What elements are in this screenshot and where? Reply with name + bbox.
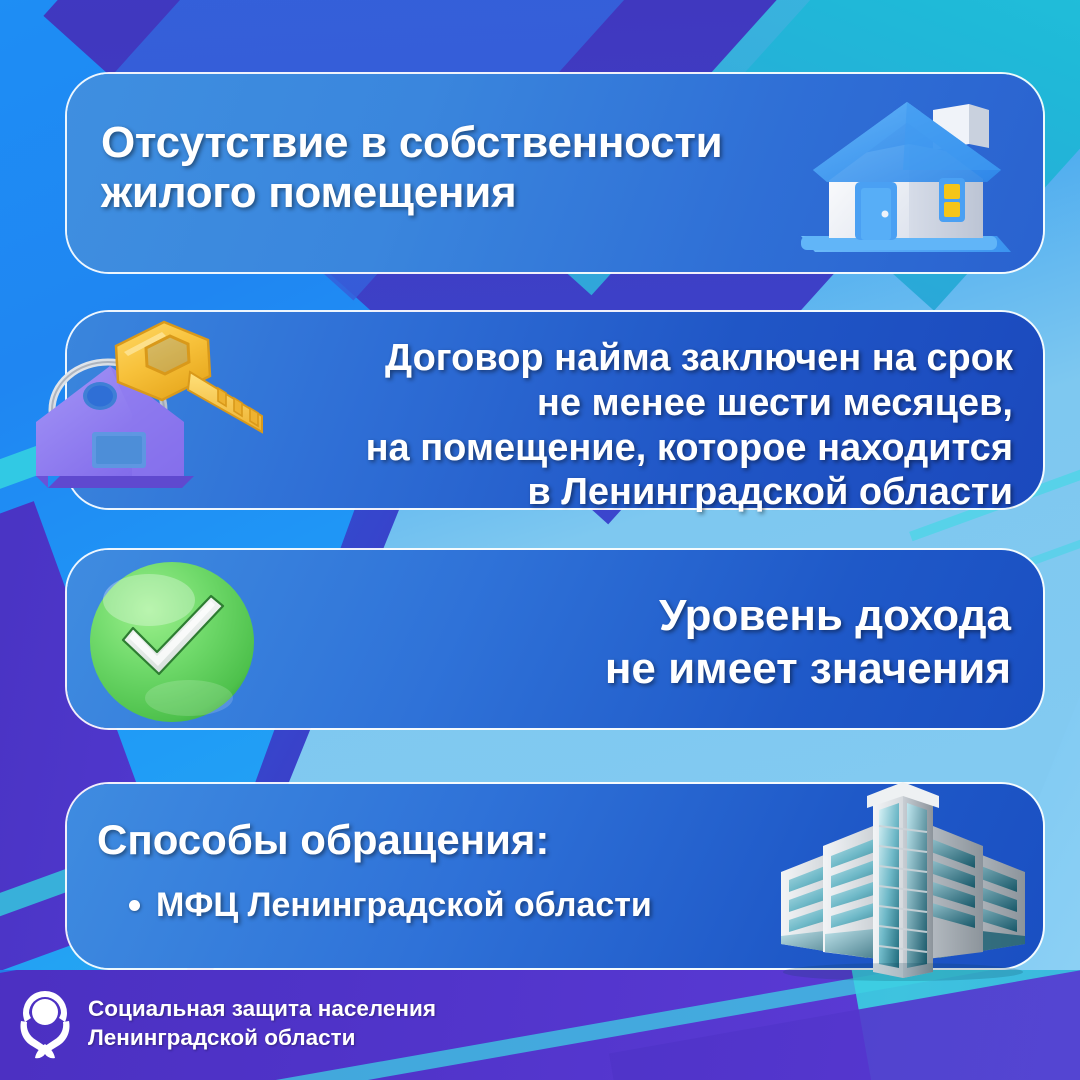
card-ownership-text: Отсутствие в собственности жилого помеще…: [101, 118, 791, 218]
card-lease-term[interactable]: Договор найма заключен на срок не менее …: [65, 310, 1045, 510]
green-check-circle-icon: [85, 558, 260, 726]
hands-holding-circle-logo: [12, 988, 78, 1062]
house-3d-icon: [783, 86, 1033, 276]
card-lease-term-text: Договор найма заключен на срок не менее …: [203, 336, 1013, 515]
footer: Социальная защита населения Ленинградско…: [0, 970, 1080, 1080]
card-how-to-apply[interactable]: Способы обращения: МФЦ Ленинградской обл…: [65, 782, 1045, 970]
footer-line-1: Социальная защита населения: [88, 994, 436, 1023]
footer-text: Социальная защита населения Ленинградско…: [88, 994, 436, 1053]
card-ownership[interactable]: Отсутствие в собственности жилого помеще…: [65, 72, 1045, 274]
key-with-house-keychain-icon: [12, 304, 272, 519]
list-item: МФЦ Ленинградской области: [129, 886, 652, 925]
office-building-icon: [767, 776, 1037, 981]
footer-line-2: Ленинградской области: [88, 1023, 436, 1052]
poster-canvas: Отсутствие в собственности жилого помеще…: [0, 0, 1080, 1080]
list-item-label: МФЦ Ленинградской области: [156, 886, 652, 925]
card-how-to-apply-title: Способы обращения:: [97, 816, 549, 864]
card-income[interactable]: Уровень дохода не имеет значения: [65, 548, 1045, 730]
bullet-icon: [129, 900, 140, 911]
card-income-text: Уровень дохода не имеет значения: [371, 590, 1011, 696]
